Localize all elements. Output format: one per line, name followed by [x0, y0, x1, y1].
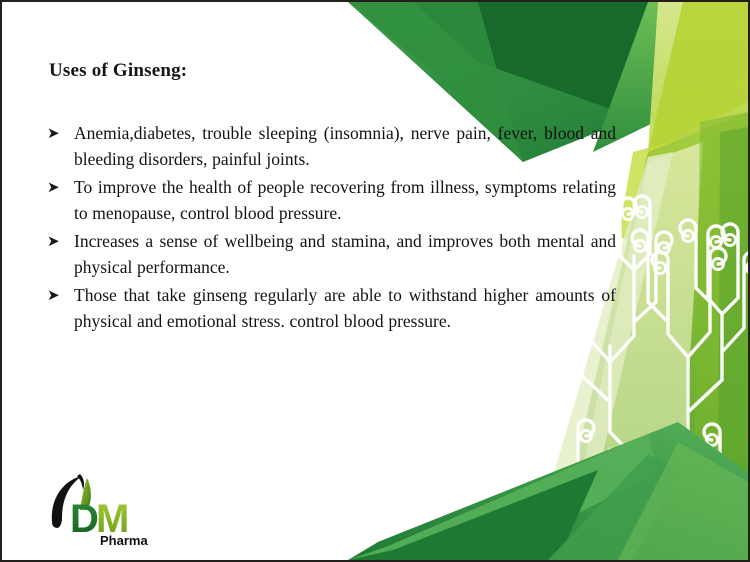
list-item-text: To improve the health of people recoveri…: [74, 174, 616, 226]
arrow-bullet-icon: ➤: [44, 282, 74, 308]
arrow-bullet-icon: ➤: [44, 228, 74, 254]
presentation-slide: Uses of Ginseng: ➤ Anemia,diabetes, trou…: [0, 0, 750, 562]
list-item-text: Increases a sense of wellbeing and stami…: [74, 228, 616, 280]
list-item: ➤ Increases a sense of wellbeing and sta…: [44, 228, 616, 280]
logo-wordmark: Pharma: [100, 533, 148, 548]
arrow-bullet-icon: ➤: [44, 174, 74, 200]
list-item: ➤ Anemia,diabetes, trouble sleeping (ins…: [44, 120, 616, 172]
arrow-bullet-icon: ➤: [44, 120, 74, 146]
bullet-list: ➤ Anemia,diabetes, trouble sleeping (ins…: [44, 120, 616, 336]
list-item: ➤ Those that take ginseng regularly are …: [44, 282, 616, 334]
list-item: ➤ To improve the health of people recove…: [44, 174, 616, 226]
dm-pharma-logo: D M Pharma: [40, 470, 160, 548]
slide-title: Uses of Ginseng:: [49, 60, 187, 82]
list-item-text: Anemia,diabetes, trouble sleeping (insom…: [74, 120, 616, 172]
logo-letter-d: D: [70, 497, 99, 541]
list-item-text: Those that take ginseng regularly are ab…: [74, 282, 616, 334]
